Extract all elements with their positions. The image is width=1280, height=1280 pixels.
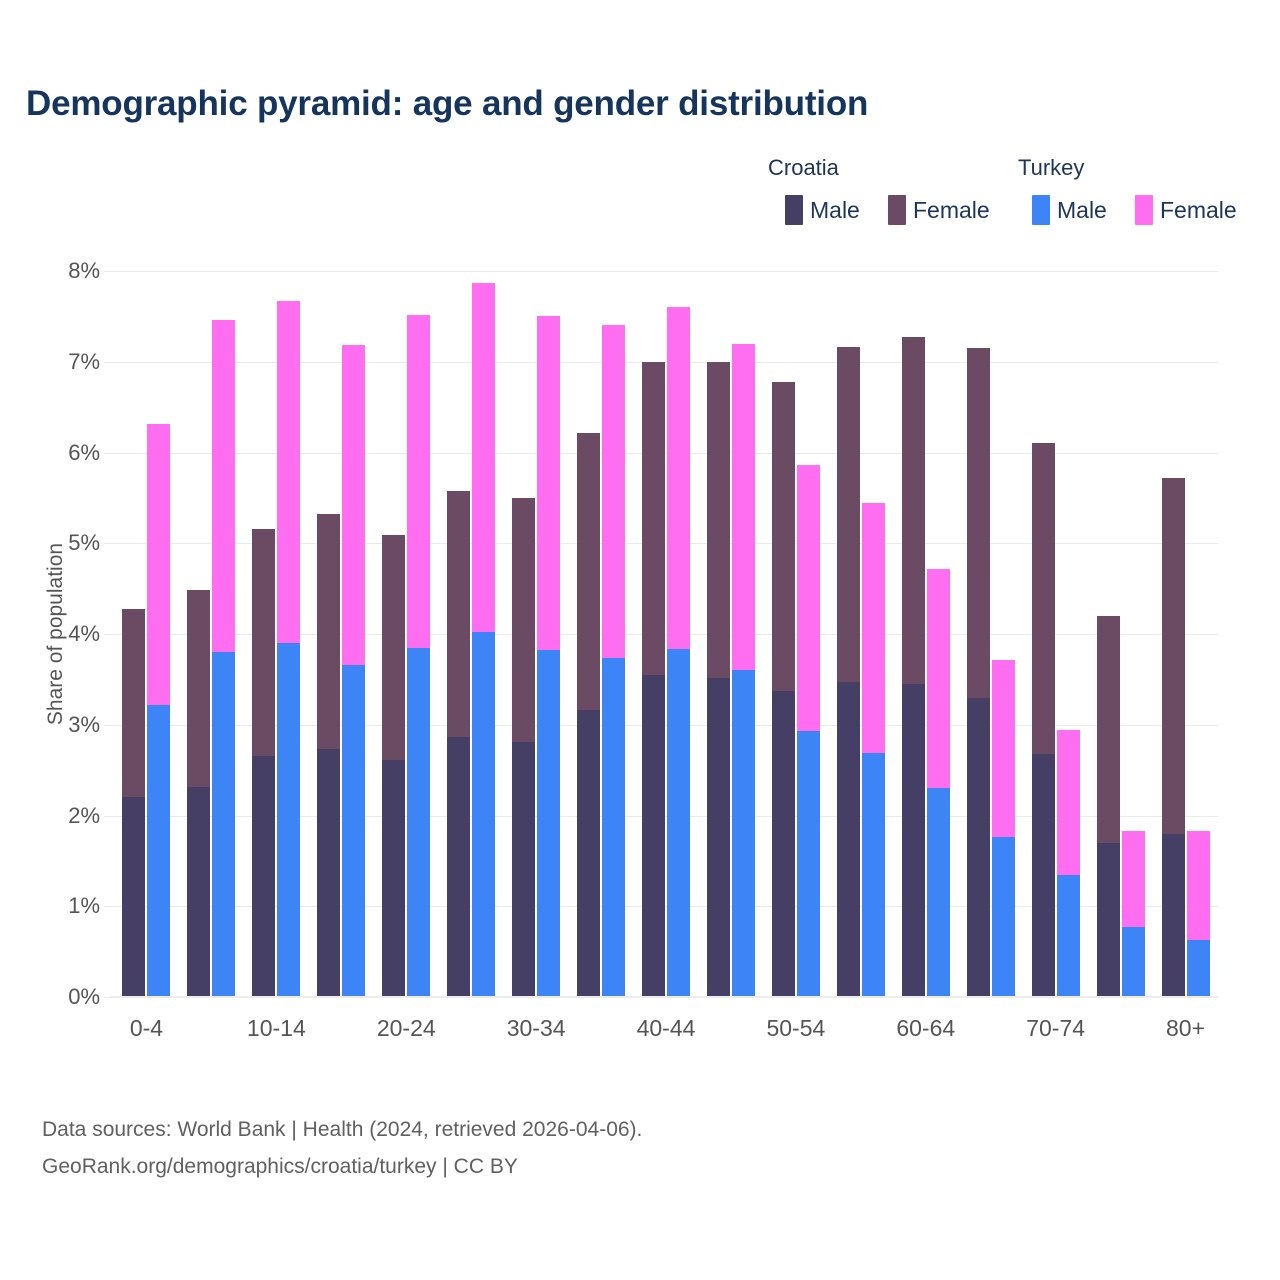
croatia-bar[interactable] <box>1032 443 1055 997</box>
croatia-male-segment[interactable] <box>447 737 470 997</box>
croatia-bar[interactable] <box>252 529 275 997</box>
croatia-female-segment[interactable] <box>837 347 860 682</box>
bar-group <box>634 271 699 997</box>
bar-group <box>1153 271 1218 997</box>
turkey-male-segment[interactable] <box>1187 940 1210 997</box>
x-tick-label: 20-24 <box>377 1015 436 1042</box>
turkey-bar[interactable] <box>667 307 690 997</box>
croatia-male-segment[interactable] <box>707 678 730 997</box>
turkey-female-segment[interactable] <box>342 345 365 664</box>
croatia-female-segment[interactable] <box>772 382 795 691</box>
y-tick-label: 6% <box>34 440 100 466</box>
croatia-female-segment[interactable] <box>967 348 990 697</box>
turkey-bar[interactable] <box>147 424 170 997</box>
croatia-female-segment[interactable] <box>1032 443 1055 754</box>
bar-group <box>114 271 179 997</box>
croatia-male-segment[interactable] <box>122 797 145 997</box>
y-tick-mark <box>104 543 114 544</box>
bar-group <box>504 271 569 997</box>
croatia-male-segment[interactable] <box>967 698 990 997</box>
y-tick-label: 1% <box>34 893 100 919</box>
x-tick-label: 50-54 <box>766 1015 825 1042</box>
croatia-female-segment[interactable] <box>1162 478 1185 834</box>
croatia-bar[interactable] <box>967 348 990 997</box>
turkey-female-segment[interactable] <box>212 320 235 652</box>
y-tick-label: 3% <box>34 712 100 738</box>
turkey-male-segment[interactable] <box>732 670 755 997</box>
x-axis-baseline <box>110 996 1218 998</box>
x-tick-label: 70-74 <box>1026 1015 1085 1042</box>
plot-wrapper: 0%1%2%3%4%5%6%7%8% 0-410-1420-2430-3440-… <box>0 0 1280 1280</box>
x-tick-label: 60-64 <box>896 1015 955 1042</box>
croatia-female-segment[interactable] <box>1097 616 1120 843</box>
croatia-female-segment[interactable] <box>577 433 600 711</box>
turkey-male-segment[interactable] <box>667 649 690 997</box>
turkey-female-segment[interactable] <box>472 283 495 632</box>
turkey-female-segment[interactable] <box>602 325 625 657</box>
y-tick-label: 7% <box>34 349 100 375</box>
croatia-female-segment[interactable] <box>187 590 210 788</box>
x-tick-label: 80+ <box>1166 1015 1205 1042</box>
croatia-male-segment[interactable] <box>187 787 210 997</box>
turkey-bar[interactable] <box>927 569 950 997</box>
croatia-male-segment[interactable] <box>1162 834 1185 997</box>
y-tick-label: 5% <box>34 530 100 556</box>
turkey-bar[interactable] <box>407 315 430 997</box>
turkey-female-segment[interactable] <box>992 660 1015 837</box>
turkey-male-segment[interactable] <box>602 658 625 997</box>
turkey-male-segment[interactable] <box>537 650 560 997</box>
croatia-male-segment[interactable] <box>317 749 340 997</box>
turkey-male-segment[interactable] <box>797 731 820 997</box>
turkey-male-segment[interactable] <box>407 648 430 997</box>
turkey-bar[interactable] <box>1187 831 1210 997</box>
turkey-male-segment[interactable] <box>212 652 235 997</box>
turkey-bar[interactable] <box>537 316 560 997</box>
y-tick-mark <box>104 453 114 454</box>
turkey-female-segment[interactable] <box>147 424 170 704</box>
turkey-male-segment[interactable] <box>1057 875 1080 997</box>
turkey-bar[interactable] <box>797 465 820 997</box>
y-tick-label: 8% <box>34 258 100 284</box>
croatia-male-segment[interactable] <box>1097 843 1120 997</box>
croatia-male-segment[interactable] <box>1032 754 1055 997</box>
croatia-female-segment[interactable] <box>707 362 730 678</box>
turkey-female-segment[interactable] <box>277 301 300 643</box>
turkey-male-segment[interactable] <box>472 632 495 997</box>
bar-group <box>179 271 244 997</box>
y-tick-mark <box>104 906 114 907</box>
x-tick-label: 0-4 <box>130 1015 163 1042</box>
croatia-female-segment[interactable] <box>447 491 470 737</box>
croatia-bar[interactable] <box>642 362 665 997</box>
y-tick-label: 4% <box>34 621 100 647</box>
turkey-bar[interactable] <box>472 283 495 997</box>
turkey-female-segment[interactable] <box>407 315 430 648</box>
turkey-bar[interactable] <box>862 503 885 997</box>
x-tick-label: 10-14 <box>247 1015 306 1042</box>
y-tick-mark <box>104 362 114 363</box>
croatia-male-segment[interactable] <box>252 756 275 997</box>
turkey-female-segment[interactable] <box>1122 831 1145 927</box>
footer-credit: GeoRank.org/demographics/croatia/turkey … <box>42 1149 642 1186</box>
bar-group <box>958 271 1023 997</box>
croatia-bar[interactable] <box>1162 478 1185 997</box>
bar-group <box>374 271 439 997</box>
turkey-bar[interactable] <box>342 345 365 997</box>
croatia-male-segment[interactable] <box>902 684 925 997</box>
x-tick-label: 40-44 <box>637 1015 696 1042</box>
croatia-female-segment[interactable] <box>902 337 925 684</box>
y-tick-mark <box>104 816 114 817</box>
turkey-female-segment[interactable] <box>797 465 820 731</box>
turkey-bar[interactable] <box>992 660 1015 997</box>
croatia-bar[interactable] <box>447 491 470 997</box>
croatia-bar[interactable] <box>187 590 210 997</box>
croatia-bar[interactable] <box>577 433 600 997</box>
croatia-bar[interactable] <box>772 382 795 997</box>
chart-page: Demographic pyramid: age and gender dist… <box>0 0 1280 1280</box>
croatia-female-segment[interactable] <box>122 609 145 798</box>
turkey-male-segment[interactable] <box>992 837 1015 997</box>
turkey-female-segment[interactable] <box>537 316 560 650</box>
bar-group <box>1023 271 1088 997</box>
croatia-female-segment[interactable] <box>642 362 665 675</box>
croatia-male-segment[interactable] <box>837 682 860 997</box>
croatia-male-segment[interactable] <box>642 675 665 997</box>
bar-group <box>439 271 504 997</box>
turkey-female-segment[interactable] <box>862 503 885 753</box>
croatia-bar[interactable] <box>512 498 535 997</box>
bar-group <box>244 271 309 997</box>
turkey-female-segment[interactable] <box>927 569 950 789</box>
x-tick-label: 30-34 <box>507 1015 566 1042</box>
turkey-bar[interactable] <box>1122 831 1145 997</box>
bar-group <box>309 271 374 997</box>
croatia-female-segment[interactable] <box>252 529 275 756</box>
bar-group <box>569 271 634 997</box>
turkey-female-segment[interactable] <box>1057 730 1080 875</box>
croatia-female-segment[interactable] <box>512 498 535 742</box>
turkey-male-segment[interactable] <box>927 788 950 997</box>
turkey-female-segment[interactable] <box>1187 831 1210 940</box>
croatia-bar[interactable] <box>1097 616 1120 997</box>
bar-group <box>828 271 893 997</box>
footer-sources: Data sources: World Bank | Health (2024,… <box>42 1112 642 1149</box>
turkey-male-segment[interactable] <box>1122 927 1145 997</box>
turkey-male-segment[interactable] <box>862 753 885 997</box>
croatia-male-segment[interactable] <box>577 710 600 997</box>
y-tick-label: 2% <box>34 803 100 829</box>
y-tick-mark <box>104 725 114 726</box>
turkey-female-segment[interactable] <box>667 307 690 649</box>
croatia-bar[interactable] <box>382 535 405 997</box>
croatia-bar[interactable] <box>317 514 340 997</box>
croatia-bar[interactable] <box>707 362 730 997</box>
y-tick-mark <box>104 271 114 272</box>
plot-area: 0%1%2%3%4%5%6%7%8% <box>114 271 1218 997</box>
turkey-male-segment[interactable] <box>277 643 300 997</box>
y-tick-label: 0% <box>34 984 100 1010</box>
bar-group <box>698 271 763 997</box>
croatia-female-segment[interactable] <box>382 535 405 760</box>
croatia-bar[interactable] <box>837 347 860 997</box>
bar-group <box>1088 271 1153 997</box>
turkey-male-segment[interactable] <box>147 705 170 997</box>
turkey-female-segment[interactable] <box>732 344 755 671</box>
bar-group <box>893 271 958 997</box>
turkey-male-segment[interactable] <box>342 665 365 997</box>
croatia-bar[interactable] <box>122 609 145 997</box>
croatia-male-segment[interactable] <box>382 760 405 997</box>
turkey-bar[interactable] <box>277 301 300 997</box>
y-tick-mark <box>104 634 114 635</box>
turkey-bar[interactable] <box>1057 730 1080 997</box>
croatia-male-segment[interactable] <box>512 742 535 997</box>
croatia-female-segment[interactable] <box>317 514 340 749</box>
croatia-bar[interactable] <box>902 337 925 997</box>
footer: Data sources: World Bank | Health (2024,… <box>42 1112 642 1186</box>
turkey-bar[interactable] <box>732 344 755 997</box>
turkey-bar[interactable] <box>212 320 235 997</box>
croatia-male-segment[interactable] <box>772 691 795 997</box>
turkey-bar[interactable] <box>602 325 625 997</box>
bar-group <box>763 271 828 997</box>
